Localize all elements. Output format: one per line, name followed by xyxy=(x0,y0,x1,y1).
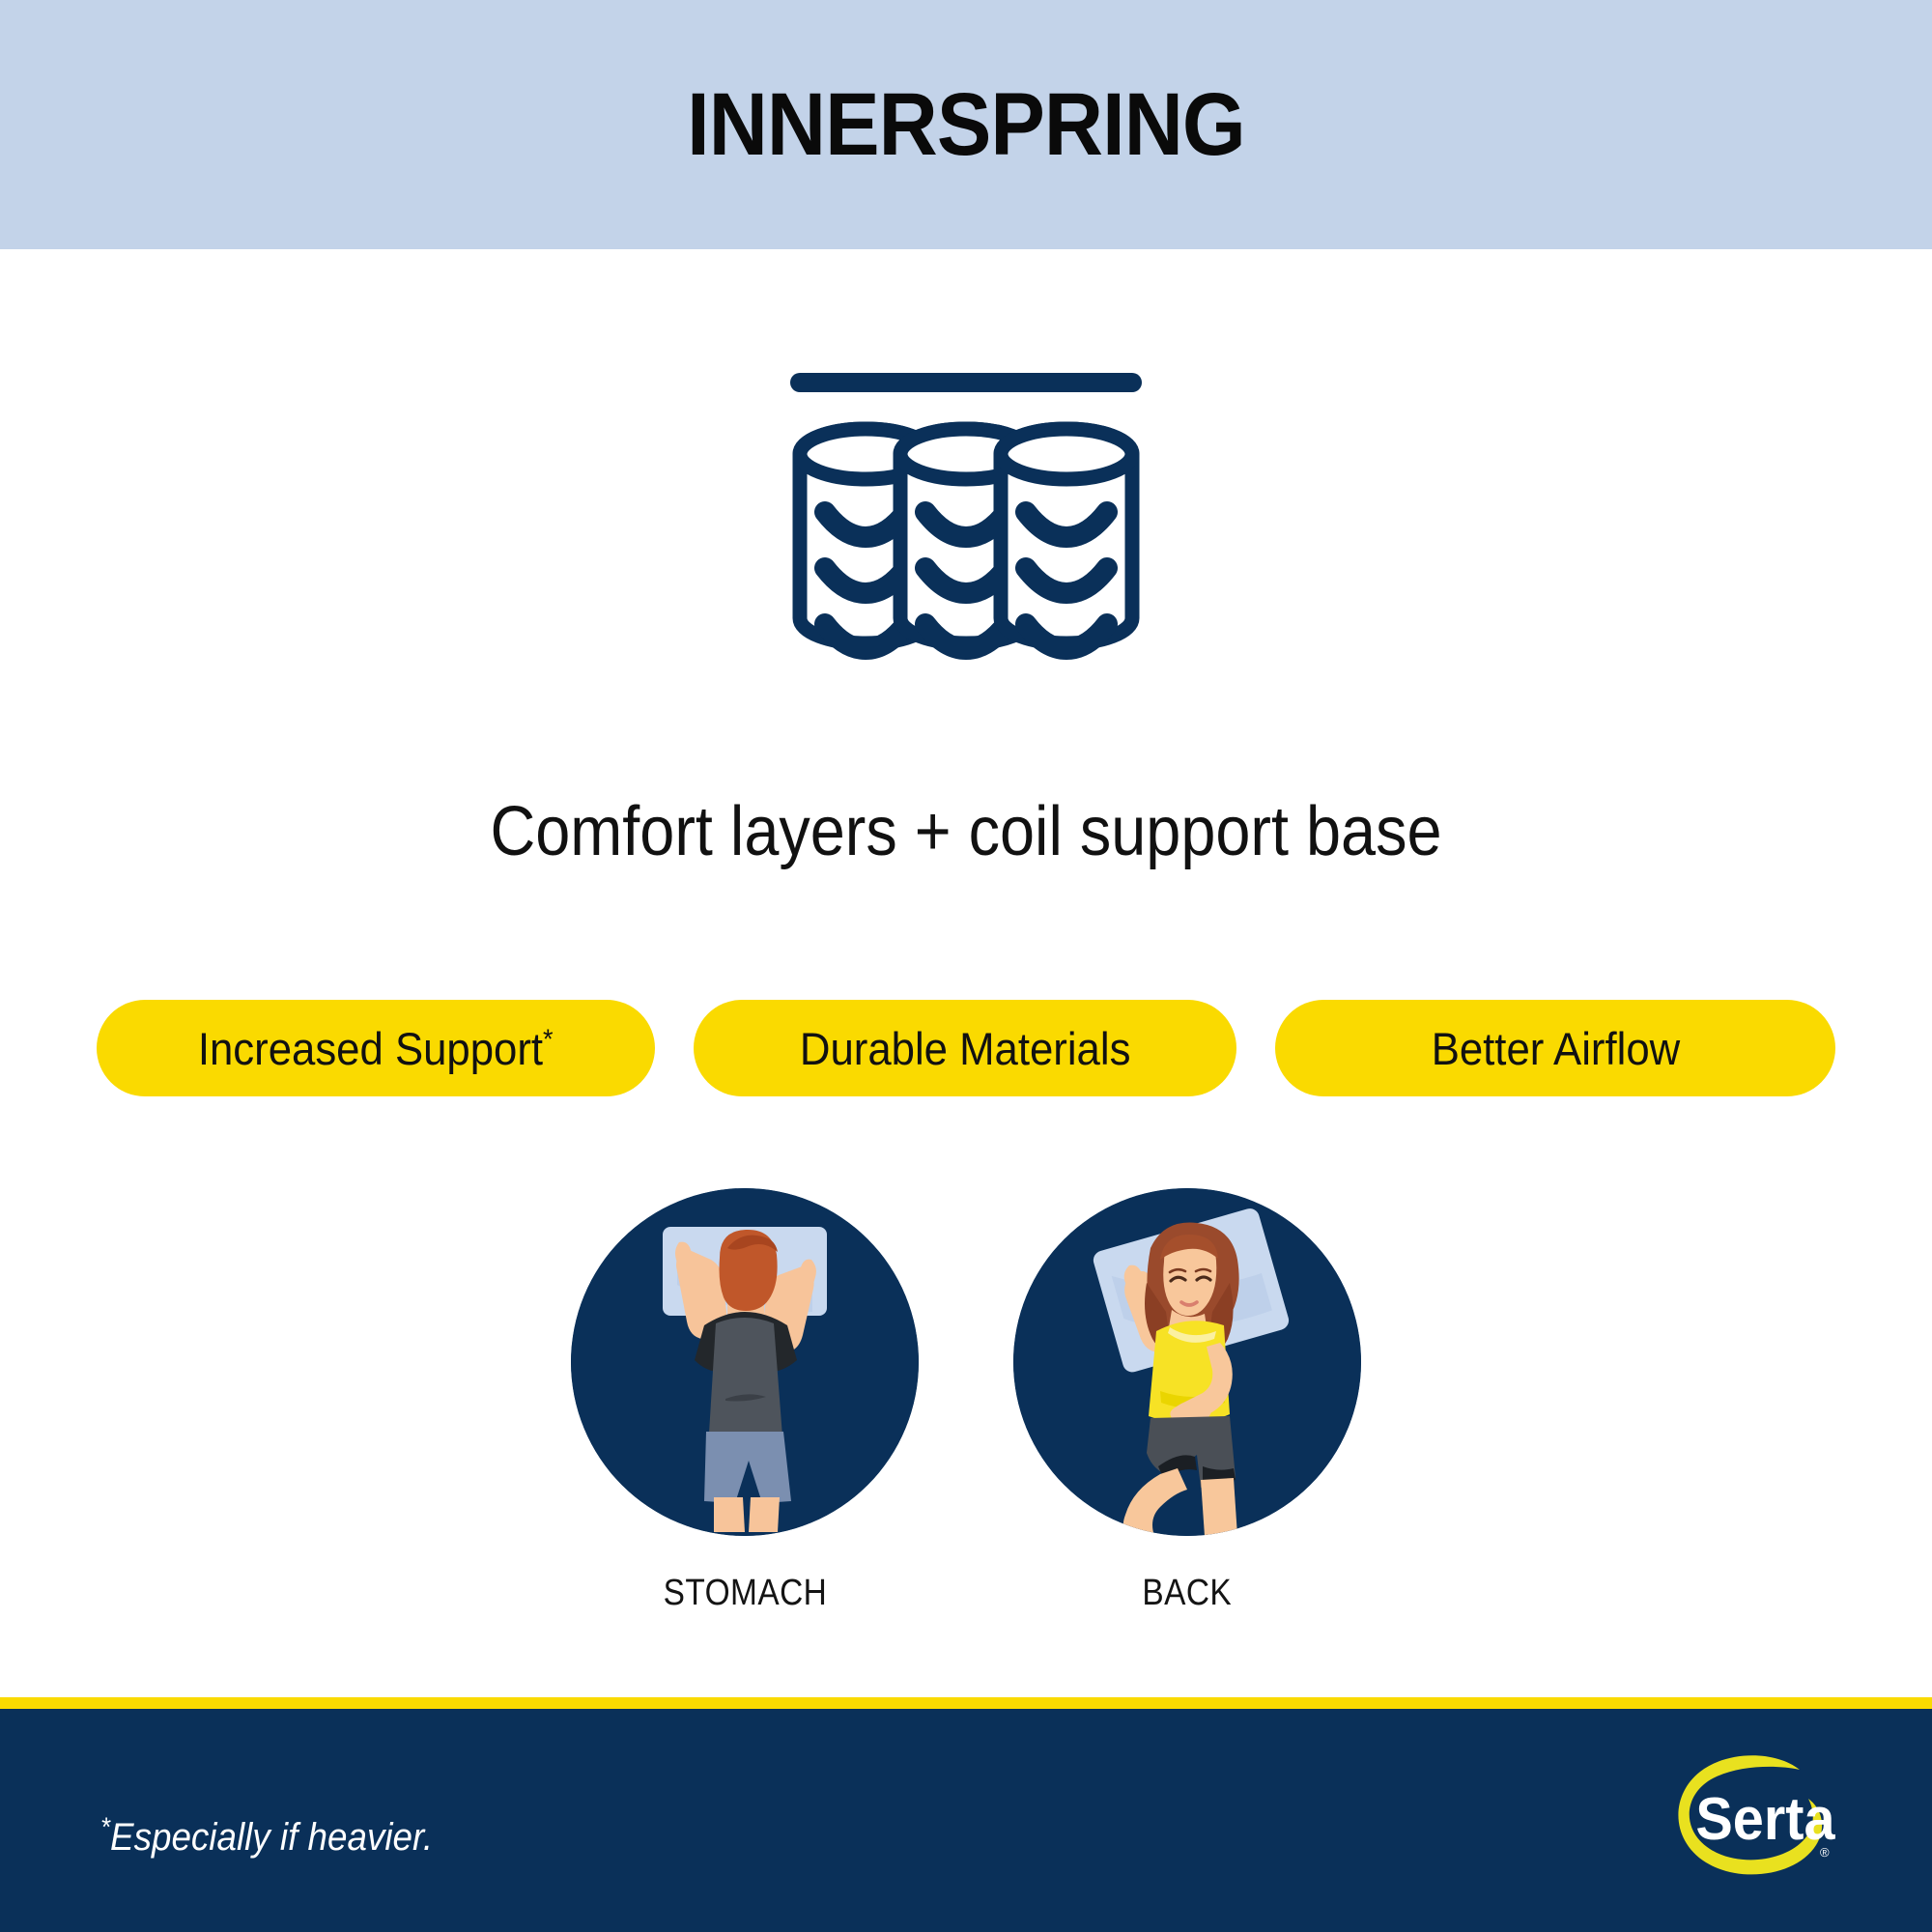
benefit-pill-label: Increased Support xyxy=(198,1023,543,1074)
header-band: INNERSPRING xyxy=(0,0,1932,249)
serta-logo[interactable]: Serta ® xyxy=(1662,1745,1855,1899)
benefit-pill-label: Durable Materials xyxy=(800,1023,1131,1074)
footnote: *Especially if heavier. xyxy=(100,1816,433,1860)
sleep-position-label: STOMACH xyxy=(663,1573,827,1614)
footer-accent-stripe xyxy=(0,1697,1932,1709)
coil-top-bar-icon xyxy=(790,373,1142,392)
coil-icon-container xyxy=(0,367,1932,724)
stomach-sleeper-circle xyxy=(571,1188,919,1536)
benefit-pill-durable-materials[interactable]: Durable Materials xyxy=(694,1000,1236,1096)
sleep-position-stomach[interactable]: STOMACH xyxy=(566,1188,923,1642)
innerspring-coils-icon xyxy=(782,367,1150,715)
back-sleeper-illustration xyxy=(1013,1188,1361,1536)
coil-cylinder-3-icon xyxy=(1001,429,1132,649)
benefit-pill-increased-support[interactable]: Increased Support* xyxy=(97,1000,655,1096)
infographic-page: INNERSPRING xyxy=(0,0,1932,1932)
footnote-marker: * xyxy=(543,1024,554,1055)
benefit-pill-better-airflow[interactable]: Better Airflow xyxy=(1275,1000,1835,1096)
stomach-sleeper-illustration xyxy=(571,1188,919,1536)
footnote-text: Especially if heavier. xyxy=(110,1816,433,1859)
footnote-asterisk: * xyxy=(100,1812,110,1842)
benefit-pill-label: Better Airflow xyxy=(1431,1023,1680,1074)
sleep-position-label: BACK xyxy=(1143,1573,1233,1614)
subtitle-text: Comfort layers + coil support base xyxy=(97,790,1835,873)
back-sleeper-circle xyxy=(1013,1188,1361,1536)
registered-trademark-icon: ® xyxy=(1820,1845,1830,1860)
page-title: INNERSPRING xyxy=(687,80,1245,169)
serta-wordmark: Serta xyxy=(1695,1785,1835,1852)
serta-logo-mark: Serta ® xyxy=(1662,1745,1855,1899)
benefit-pill-row: Increased Support* Durable Materials Bet… xyxy=(97,1000,1835,1096)
sleep-position-back[interactable]: BACK xyxy=(1009,1188,1366,1642)
sleep-positions-row: STOMACH xyxy=(0,1188,1932,1642)
